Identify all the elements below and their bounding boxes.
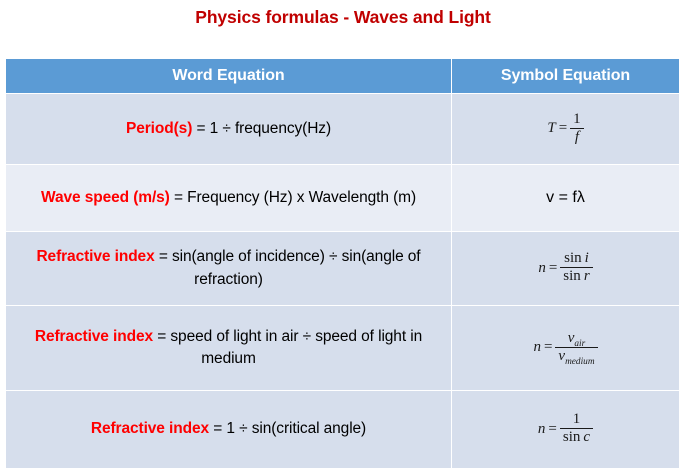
formula-lhs: n [538,421,546,437]
equals-sign: = [548,421,556,437]
formula-refractive-index-speed: n=vairvmedium [533,330,597,366]
page-root: Physics formulas - Waves and Light Word … [0,0,686,476]
word-equation-highlight: Refractive index [35,328,153,345]
word-equation-cell: Period(s) = 1 ÷ frequency(Hz) [6,94,452,165]
table-row: Refractive index = 1 ÷ sin(critical angl… [6,391,680,469]
equals-sign: = [549,260,557,276]
fraction-denominator: f [570,129,584,146]
physics-formula-table: Word Equation Symbol Equation Period(s) … [5,58,680,469]
symbol-equation-cell: T=1f [452,94,680,165]
table-header-row: Word Equation Symbol Equation [6,59,680,94]
fraction-numerator: 1 [560,411,593,429]
word-equation-rest: = speed of light in air ÷ speed of light… [153,328,422,367]
fraction-denominator: sin r [560,268,592,285]
fraction-numerator: 1 [570,111,584,129]
sin-operator: sin [563,268,581,284]
fraction: 1f [570,111,584,147]
formula-lhs: n [533,339,541,355]
word-equation-rest: = 1 ÷ sin(critical angle) [209,420,366,437]
table-row: Refractive index = speed of light in air… [6,306,680,391]
formula-lhs: T [547,120,555,136]
fraction-denominator: sin c [560,429,593,446]
table-row: Period(s) = 1 ÷ frequency(Hz) T=1f [6,94,680,165]
formula-refractive-index-sin: n=sin isin r [538,251,592,287]
formula-refractive-index-critical: n=1sin c [538,412,593,448]
word-equation-cell: Refractive index = speed of light in air… [6,306,452,391]
fraction-numerator: sin i [560,250,592,268]
numerator-variable: i [585,250,589,266]
word-equation-highlight: Refractive index [36,248,154,265]
equals-sign: = [544,339,552,355]
word-equation-cell: Refractive index = sin(angle of incidenc… [6,232,452,306]
sin-operator: sin [563,429,581,445]
fraction: 1sin c [560,411,593,447]
fraction-numerator: vair [555,330,597,348]
symbol-equation-cell: v = fλ [452,165,680,232]
table-header: Word Equation Symbol Equation [6,59,680,94]
formula-lhs: n [538,260,546,276]
table-row: Wave speed (m/s) = Frequency (Hz) x Wave… [6,165,680,232]
word-equation-highlight: Refractive index [91,420,209,437]
word-equation-cell: Refractive index = 1 ÷ sin(critical angl… [6,391,452,469]
word-equation-highlight: Period(s) [126,120,192,137]
fraction-denominator: vmedium [555,348,597,365]
fraction: sin isin r [560,250,592,286]
page-title: Physics formulas - Waves and Light [0,7,686,28]
table-row: Refractive index = sin(angle of incidenc… [6,232,680,306]
word-equation-rest: = 1 ÷ frequency(Hz) [192,120,331,137]
denominator-variable: r [584,268,590,284]
formula-wave-speed: v = fλ [546,189,585,206]
formula-period: T=1f [547,111,583,147]
denominator-subscript: medium [565,357,594,367]
equals-sign: = [559,120,567,136]
column-header-word-equation: Word Equation [6,59,452,94]
column-header-symbol-equation: Symbol Equation [452,59,680,94]
fraction: vairvmedium [555,330,597,366]
word-equation-rest: = sin(angle of incidence) ÷ sin(angle of… [155,248,421,287]
sin-operator: sin [564,250,582,266]
symbol-equation-cell: n=1sin c [452,391,680,469]
symbol-equation-cell: n=vairvmedium [452,306,680,391]
symbol-equation-cell: n=sin isin r [452,232,680,306]
word-equation-rest: = Frequency (Hz) x Wavelength (m) [170,189,416,206]
denominator-variable: c [583,429,590,445]
table-body: Period(s) = 1 ÷ frequency(Hz) T=1f Wave … [6,94,680,469]
word-equation-highlight: Wave speed (m/s) [41,189,170,206]
word-equation-cell: Wave speed (m/s) = Frequency (Hz) x Wave… [6,165,452,232]
